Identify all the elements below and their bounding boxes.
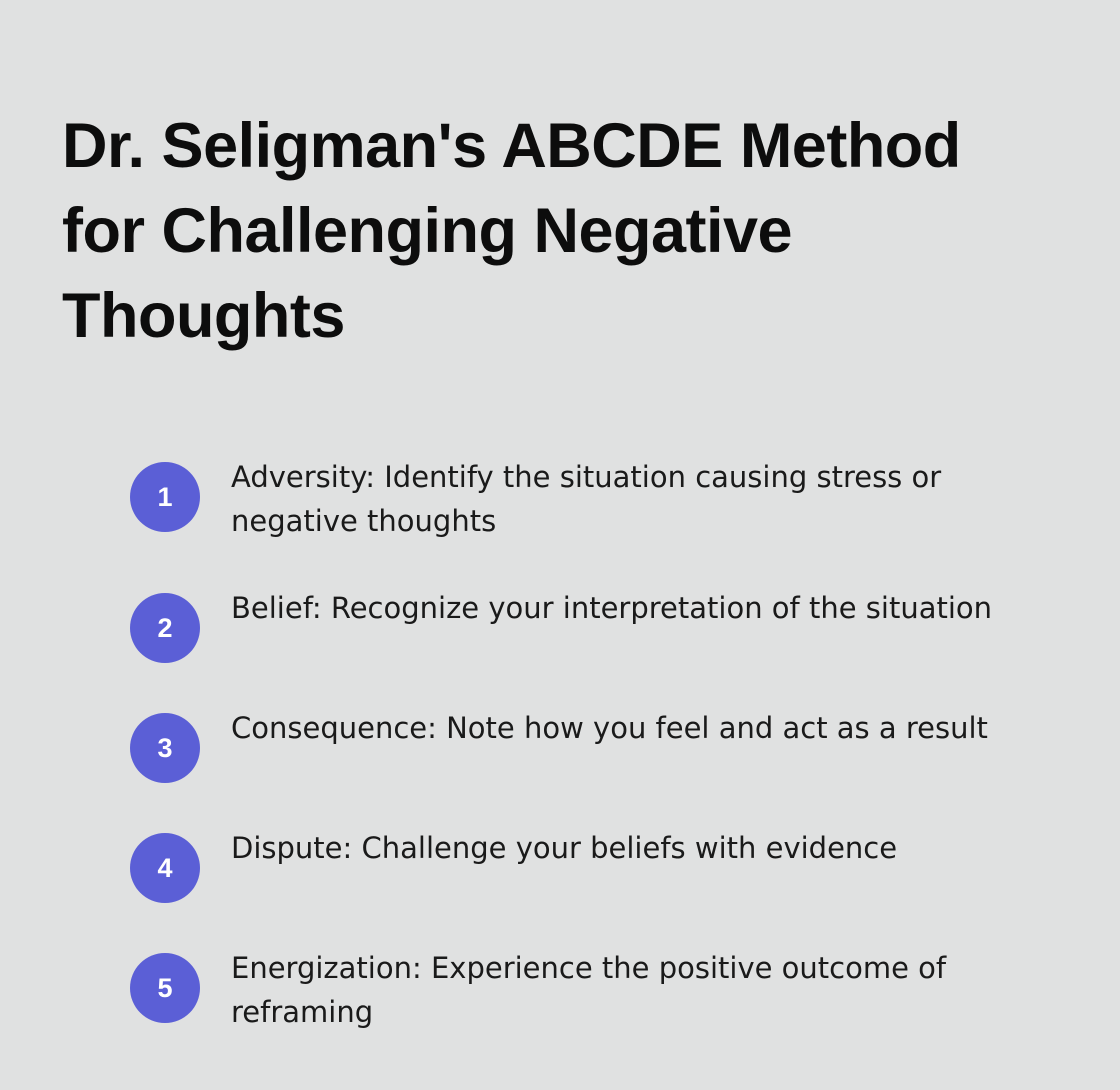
list-item: 5 Energization: Experience the positive …	[130, 943, 1030, 1034]
step-description: Adversity: Identify the situation causin…	[231, 452, 1021, 543]
step-description: Energization: Experience the positive ou…	[231, 943, 1021, 1034]
infographic-card: Dr. Seligman's ABCDE Method for Challeng…	[0, 0, 1120, 1090]
page-title: Dr. Seligman's ABCDE Method for Challeng…	[62, 104, 1022, 359]
list-item: 4 Dispute: Challenge your beliefs with e…	[130, 823, 1030, 903]
steps-list: 1 Adversity: Identify the situation caus…	[130, 452, 1030, 1034]
step-number-badge: 2	[130, 593, 200, 663]
step-number-badge: 3	[130, 713, 200, 783]
step-number-badge: 1	[130, 462, 200, 532]
step-description: Belief: Recognize your interpretation of…	[231, 583, 1021, 630]
step-number-badge: 5	[130, 953, 200, 1023]
list-item: 2 Belief: Recognize your interpretation …	[130, 583, 1030, 663]
list-item: 1 Adversity: Identify the situation caus…	[130, 452, 1030, 543]
step-number-badge: 4	[130, 833, 200, 903]
step-description: Consequence: Note how you feel and act a…	[231, 703, 1021, 750]
list-item: 3 Consequence: Note how you feel and act…	[130, 703, 1030, 783]
step-description: Dispute: Challenge your beliefs with evi…	[231, 823, 1021, 870]
